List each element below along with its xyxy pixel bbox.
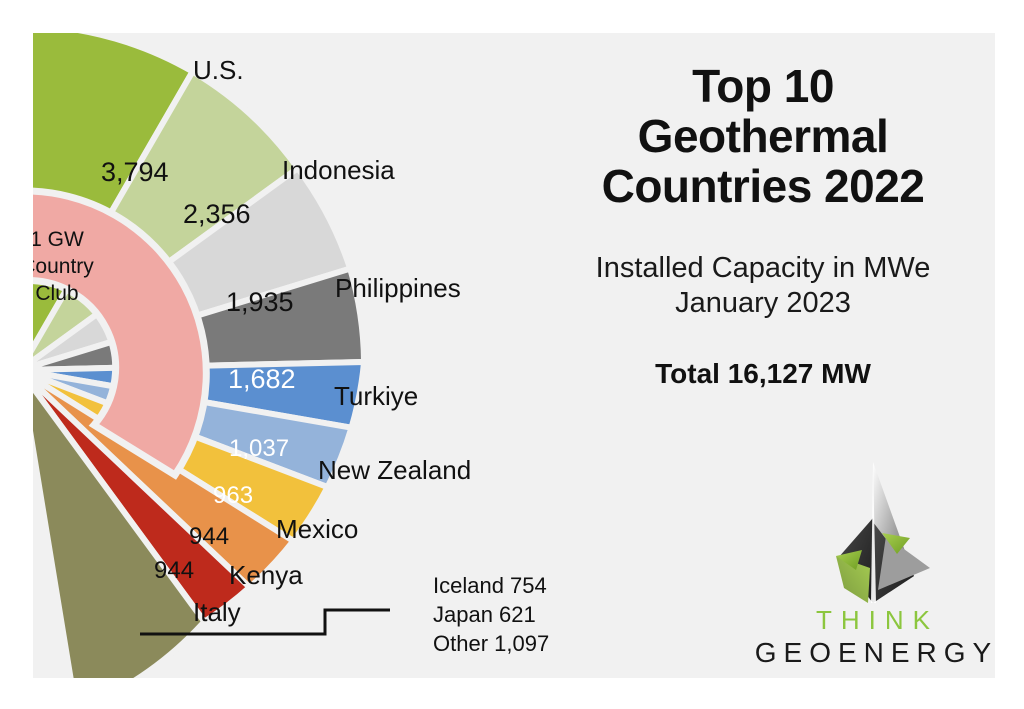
slice-value-indonesia: 2,356 [183,199,251,229]
slice-value-philippines: 1,935 [226,287,294,317]
slice-value-new-zealand: 1,037 [229,435,289,462]
logo-word-think: THINK [733,605,995,636]
footnote-item-iceland: Iceland 754 [433,573,547,598]
total-capacity-label: Total 16,127 MW [533,358,993,390]
logo-word-geoenergy: GEOENERGY [733,637,995,669]
country-label-us: U.S. [193,55,244,85]
thinkgeoenergy-triangle-icon [798,458,948,603]
footnote-item-other: Other 1,097 [433,631,549,656]
country-label-new-zealand: New Zealand [318,455,471,485]
total-block: Total 16,127 MW [533,358,993,390]
slice-value-mexico: 963 [213,482,253,509]
slice-value-italy: 944 [154,557,194,584]
inner-ring-label-line1: 1 GW [33,228,84,251]
footnote-list: Iceland 754 Japan 621 Other 1,097 [433,573,549,656]
page-title-line3: Countries 2022 [548,161,978,211]
title-block: Top 10 Geothermal Countries 2022 [548,61,978,211]
country-label-kenya: Kenya [229,560,303,590]
slice-value-kenya: 944 [189,523,229,550]
country-label-italy: Italy [193,597,241,627]
poster-panel: 3,794 2,356 1,935 1,682 1,037 963 944 94… [33,33,995,678]
country-label-indonesia: Indonesia [282,155,395,185]
page-title-line2: Geothermal [548,111,978,161]
page-title-line1: Top 10 [548,61,978,111]
slice-value-turkiye: 1,682 [228,364,296,394]
infographic-root: 3,794 2,356 1,935 1,682 1,037 963 944 94… [0,0,1024,709]
inner-ring-label-line3: Club [35,282,78,305]
brand-logo: THINK GEOENERGY [733,458,995,669]
subtitle-line2: January 2023 [533,286,993,321]
country-label-philippines: Philippines [335,273,461,303]
country-label-turkiye: Turkiye [334,381,418,411]
subtitle-block: Installed Capacity in MWe January 2023 [533,251,993,321]
footnote-item-japan: Japan 621 [433,602,536,627]
country-label-mexico: Mexico [276,514,358,544]
inner-ring-label-line2: Country [33,255,94,278]
subtitle-line1: Installed Capacity in MWe [533,251,993,286]
slice-value-us: 3,794 [101,157,169,187]
